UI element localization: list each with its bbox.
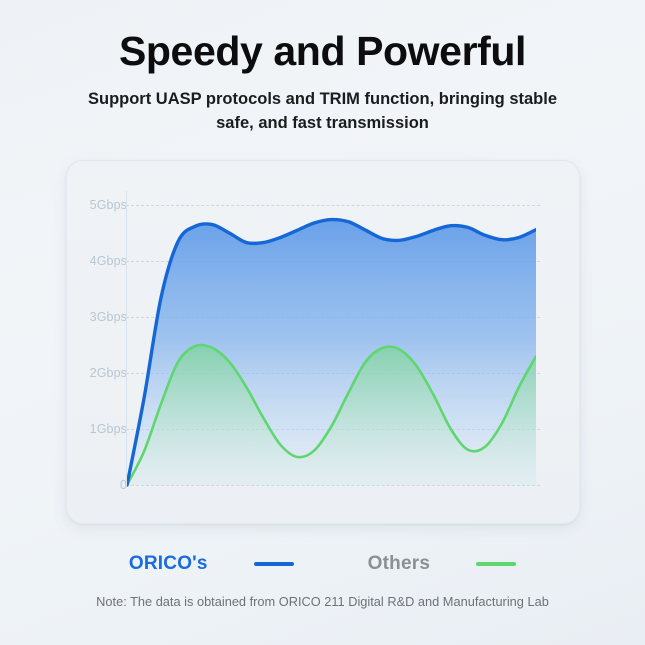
- legend-swatch-others: [476, 562, 516, 566]
- header: Speedy and Powerful Support UASP protoco…: [0, 0, 645, 135]
- legend-item-orico: ORICO's: [129, 553, 294, 575]
- plot-region: [126, 161, 579, 523]
- y-axis-tick-label: 2Gbps: [90, 366, 127, 380]
- chart-plot-area: 01Gbps2Gbps3Gbps4Gbps5Gbps: [67, 161, 579, 523]
- page-title: Speedy and Powerful: [0, 0, 645, 76]
- y-axis-tick-label: 5Gbps: [90, 198, 127, 212]
- y-axis-tick-label: 3Gbps: [90, 310, 127, 324]
- promo-page: Speedy and Powerful Support UASP protoco…: [0, 0, 645, 645]
- legend-label-orico: ORICO's: [129, 553, 208, 575]
- chart-legend: ORICO's Others: [0, 553, 645, 575]
- page-subtitle: Support UASP protocols and TRIM function…: [83, 76, 563, 135]
- chart-note: Note: The data is obtained from ORICO 21…: [0, 594, 645, 609]
- chart-card: 01Gbps2Gbps3Gbps4Gbps5Gbps: [66, 160, 580, 524]
- y-axis-tick-label: 1Gbps: [90, 422, 127, 436]
- y-axis-labels: 01Gbps2Gbps3Gbps4Gbps5Gbps: [67, 161, 135, 523]
- legend-label-others: Others: [368, 553, 430, 575]
- legend-swatch-orico: [254, 562, 294, 566]
- y-axis-tick-label: 4Gbps: [90, 254, 127, 268]
- performance-chart-svg: [127, 161, 557, 523]
- legend-item-others: Others: [368, 553, 516, 575]
